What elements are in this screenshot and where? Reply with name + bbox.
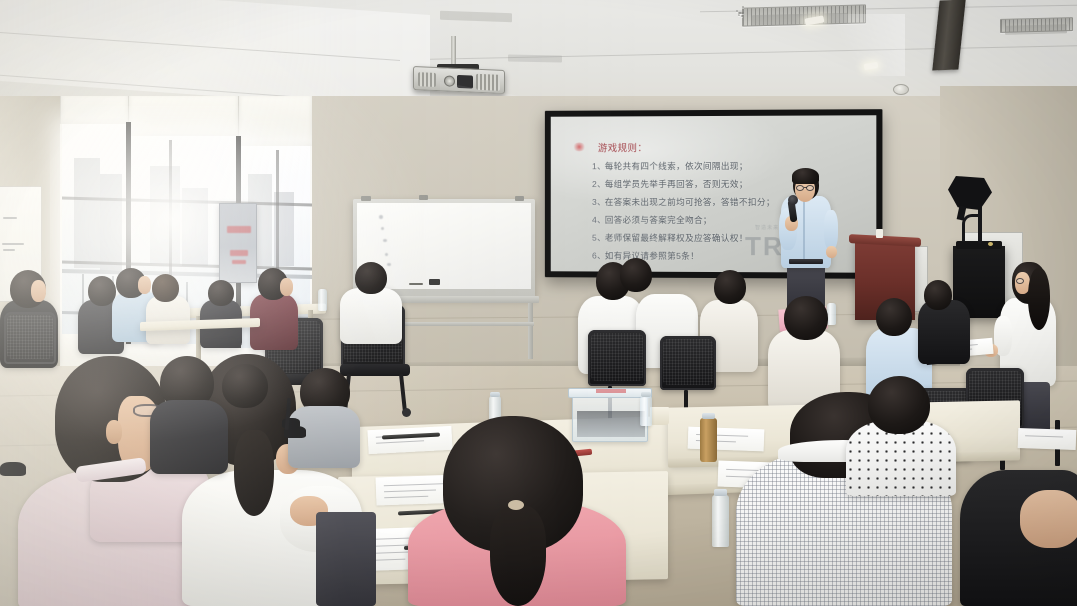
chair-center-1[interactable] — [588, 330, 646, 386]
foreground-right-arm — [1020, 490, 1077, 548]
slide-rule-3: 3、在答案未出现之前均可抢答，答错不扣分； — [592, 196, 775, 208]
window-blind-1[interactable] — [60, 96, 128, 124]
slide-rule-5-num: 5、 — [592, 232, 605, 244]
water-bottle-3[interactable] — [712, 495, 729, 547]
ceiling-panel-grey-2 — [1005, 24, 1067, 35]
audience-right-1-head — [876, 298, 912, 336]
audience-back-center-torso — [340, 288, 402, 344]
foreground-woman-ponytail — [234, 430, 274, 516]
slide-rule-4: 4、回答必须与答案完全吻合； — [592, 214, 712, 226]
whiteboard-leg-right — [528, 303, 533, 359]
slide-rule-1-text: 每轮共有四个线索，依次间隔出现； — [605, 161, 748, 171]
slide-rule-3-text: 在答案未出现之前均可抢答，答错不扣分； — [605, 197, 775, 207]
slide-rule-6: 6、如有异议请参照第5条！ — [592, 250, 699, 262]
microphone-head — [788, 195, 798, 205]
foreground-woman-legs — [316, 512, 376, 606]
presenter-shirt-placket — [803, 200, 805, 262]
av-indicator-light — [988, 242, 993, 246]
window-blind-2[interactable] — [128, 96, 238, 136]
ceiling-panel-grey-4 — [508, 55, 562, 63]
foreground-man-ear — [106, 420, 122, 444]
ceiling-speaker — [893, 84, 909, 95]
podium-item — [876, 229, 883, 238]
slide-title: 游戏规则： — [598, 140, 647, 154]
slide-watermark: TR — [745, 231, 784, 262]
audience-right-2-head — [924, 280, 952, 310]
red-text-poster — [219, 203, 257, 283]
paper-cup[interactable] — [650, 407, 669, 425]
chair-left-1[interactable] — [4, 312, 56, 364]
iced-tea-bottle[interactable] — [700, 418, 717, 462]
slide-rule-2-text: 每组学员先举手再回答，否则无效； — [605, 179, 748, 189]
slide-rule-6-num: 6、 — [592, 250, 605, 262]
ceiling-projector — [413, 66, 505, 94]
ceiling-panel-grey-1 — [752, 13, 848, 26]
water-bottle-2[interactable] — [640, 396, 652, 426]
av-mount-arm-curved — [962, 214, 980, 242]
track-light-2 — [864, 62, 879, 70]
audience-right-3-head — [784, 296, 828, 340]
audience-mid-1-torso — [150, 400, 228, 474]
audience-left-5-face — [280, 278, 293, 296]
foreground-pink-ponytail — [490, 506, 546, 606]
slide-rule-4-text: 回答必须与答案完全吻合； — [605, 215, 712, 225]
worksheet-1[interactable] — [367, 426, 452, 454]
chair-center-2[interactable] — [660, 336, 716, 390]
slide-rule-2: 2、每组学员先举手再回答，否则无效； — [592, 178, 748, 190]
window-blind-3[interactable] — [238, 96, 312, 146]
slide-rule-1: 1、每轮共有四个线索，依次间隔出现； — [592, 160, 748, 172]
slide-bullet-dot — [572, 142, 586, 151]
audience-left-6-head — [208, 280, 234, 306]
presenter-hair — [792, 168, 819, 184]
audience-left-4-head — [152, 274, 179, 302]
foreground-pink-hairtie — [508, 500, 524, 510]
slide-rule-4-num: 4、 — [592, 214, 605, 226]
slide-rule-1-num: 1、 — [592, 160, 605, 172]
audience-center-3-head — [714, 270, 746, 304]
projector-lens — [444, 75, 455, 86]
assistant-glasses — [1016, 278, 1024, 284]
ceiling-panel-grey-3 — [440, 11, 512, 23]
whiteboard-marker[interactable] — [409, 283, 423, 285]
slide-rule-2-num: 2、 — [592, 178, 605, 190]
audience-center-2-head — [620, 258, 652, 292]
audience-mid-2-head — [222, 364, 268, 408]
crate-tape-label — [596, 389, 626, 393]
right-bottle-1[interactable] — [827, 303, 836, 325]
slide-rule-6-text: 如有异议请参照第5条！ — [605, 251, 699, 261]
audience-left-3-face — [138, 276, 151, 294]
shoe-1 — [0, 462, 26, 476]
slide-watermark-sub: 智造未来 — [755, 224, 779, 231]
slide-rule-5: 5、老师保留最终解释权及应答确认权！ — [592, 232, 748, 244]
slide-rule-5-text: 老师保留最终解释权及应答确认权！ — [605, 233, 748, 243]
audience-back-center-head — [355, 262, 387, 294]
clear-storage-crate[interactable] — [572, 394, 648, 442]
whiteboard-eraser[interactable] — [429, 279, 440, 285]
worksheet-6[interactable] — [1018, 428, 1077, 450]
audience-dots-head — [868, 376, 930, 434]
audience-left-1-face — [31, 280, 46, 302]
presenter-arm-right — [824, 210, 838, 250]
audience-right-2-torso — [918, 300, 970, 364]
ceiling-beam — [932, 0, 965, 70]
presenter-glasses — [796, 185, 804, 191]
presenter-glasses-right — [806, 185, 814, 191]
presenter-belt — [789, 259, 823, 264]
assistant-hair — [1028, 268, 1050, 330]
presenter-hand-right — [826, 246, 837, 258]
back-bottle-1[interactable] — [318, 289, 327, 311]
classroom-photo: 智造未来 TR 游戏规则： 1、每轮共有四个线索，依次间隔出现； 2、每组学员先… — [0, 0, 1077, 606]
slide-rule-3-num: 3、 — [592, 196, 605, 208]
